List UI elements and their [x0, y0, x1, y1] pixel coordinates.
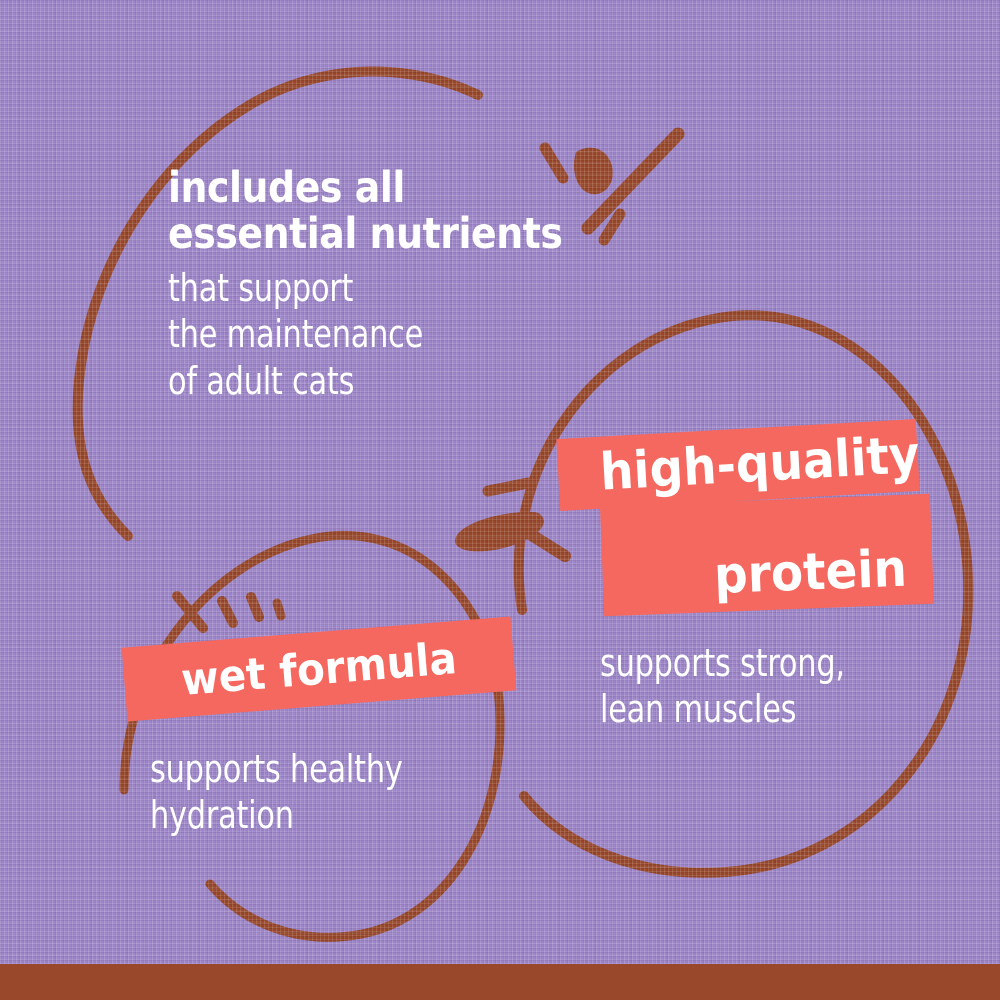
nutrients-headline-line-1: includes all [168, 165, 563, 211]
nutrients-body-line-3: of adult cats [168, 358, 527, 404]
protein-text-block: supports strong, lean muscles [600, 640, 906, 733]
poster-canvas: includes all essential nutrients that su… [0, 0, 1000, 1000]
protein-body-line-2: lean muscles [600, 686, 845, 732]
nutrients-text-block: includes all essential nutrients that su… [168, 165, 616, 404]
nutrients-body-line-2: the maintenance [168, 311, 527, 357]
bottom-brown-bar [0, 964, 1000, 1000]
wet-formula-dashes-icon [177, 596, 281, 628]
center-dashes-icon [455, 483, 565, 556]
nutrients-body-line-1: that support [168, 265, 527, 311]
nutrients-headline-line-2: essential nutrients [168, 211, 563, 257]
protein-badge: protein [600, 494, 934, 617]
protein-body-line-1: supports strong, [600, 640, 845, 686]
high-quality-badge-label: high-quality [598, 425, 921, 502]
wet-body-line-1: supports healthy [150, 746, 403, 792]
wet-formula-badge-label: wet formula [179, 633, 458, 706]
protein-badge-label: protein [713, 540, 908, 606]
wet-formula-text-block: supports healthy hydration [150, 746, 466, 839]
wet-body-line-2: hydration [150, 792, 403, 838]
